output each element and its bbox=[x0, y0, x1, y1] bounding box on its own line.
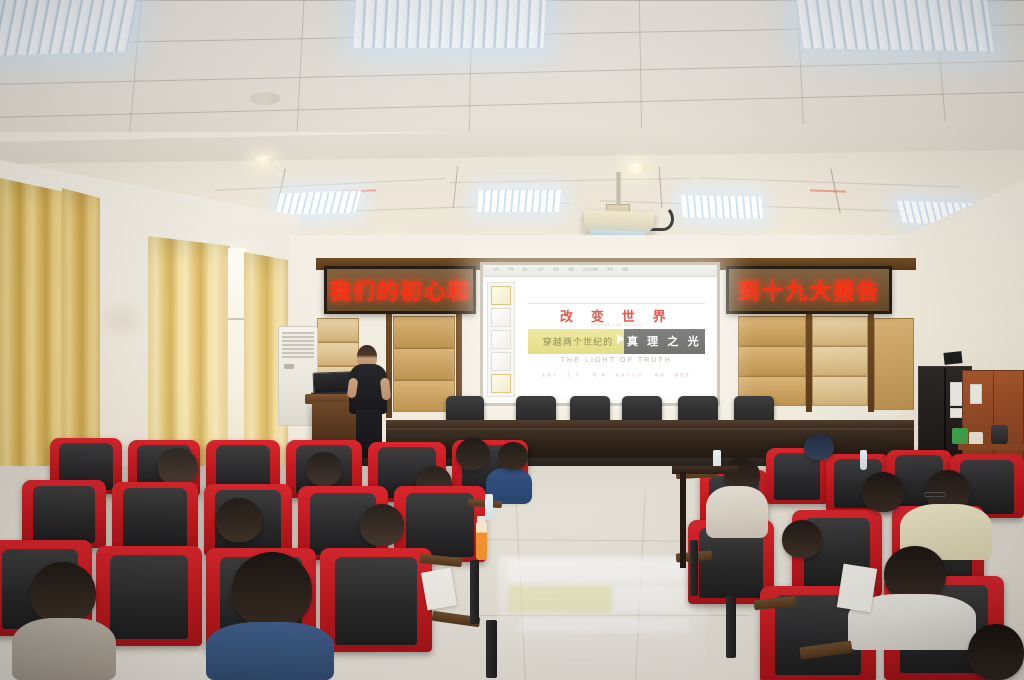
curtain-left-inner bbox=[62, 188, 100, 478]
menu-item[interactable]: 设计 bbox=[538, 267, 544, 271]
seat-leg bbox=[726, 596, 736, 658]
wood-panel bbox=[393, 316, 455, 348]
ceiling-grid-light-center bbox=[477, 190, 561, 212]
attendee-head bbox=[456, 438, 490, 470]
ac-display bbox=[284, 364, 294, 369]
slide-canvas: 改 变 世 界 CHANGE THE WORLD 穿越两个世纪的 真 理 之 光… bbox=[520, 280, 712, 399]
ceiling-grid-light-left bbox=[275, 191, 361, 216]
stage-wall-divider bbox=[868, 312, 874, 412]
slide-credit: 主讲人 : 王 力 bbox=[542, 373, 581, 378]
ceiling-light-panel-right bbox=[796, 0, 994, 52]
menu-item[interactable]: 文件 bbox=[493, 267, 499, 271]
seat[interactable] bbox=[96, 546, 202, 646]
wood-panel bbox=[812, 376, 868, 406]
attendee-head bbox=[782, 520, 822, 558]
attendee-head bbox=[216, 498, 262, 542]
ac-vent bbox=[282, 332, 314, 358]
wood-panel bbox=[812, 346, 868, 376]
attendee-shoulders bbox=[206, 622, 334, 680]
eyeglasses-icon bbox=[924, 492, 946, 497]
slide-credit: 地点 : 报告厅 bbox=[655, 373, 691, 378]
slide-thumbnail[interactable] bbox=[491, 352, 511, 371]
wood-panel bbox=[317, 342, 359, 366]
menu-item[interactable]: 审阅 bbox=[607, 267, 613, 271]
cabinet-counter bbox=[958, 444, 1024, 450]
ceiling-light-panel-center bbox=[354, 0, 547, 48]
slide-thumbnail[interactable] bbox=[491, 308, 511, 327]
attendee-head bbox=[158, 448, 198, 486]
wood-panel bbox=[738, 346, 806, 376]
water-bottle bbox=[860, 450, 867, 470]
slide-credits: 主讲人 : 王 力 时 间 : 九月十八日 地点 : 报告厅 bbox=[536, 373, 697, 378]
projection-screen-surface: 文件 开始 插入 设计 切换 动画 幻灯片放映 审阅 视图 bbox=[483, 265, 717, 403]
attendee-shoulders bbox=[706, 486, 768, 538]
slide-band-yellow-text: 穿越两个世纪的 bbox=[543, 335, 614, 348]
wall-mark bbox=[96, 298, 148, 342]
attendee-head bbox=[862, 472, 904, 512]
seat-leg bbox=[690, 540, 698, 596]
document-in-hand bbox=[421, 568, 457, 611]
projector-cable bbox=[650, 205, 674, 231]
slide-english-line: THE LIGHT OF TRUTH bbox=[520, 357, 712, 364]
projection-screen: 文件 开始 插入 设计 切换 动画 幻灯片放映 审阅 视图 bbox=[480, 262, 720, 406]
wood-panel bbox=[393, 348, 455, 380]
smoke-detector-icon bbox=[250, 92, 280, 105]
led-banner-left: 我们的初心和 bbox=[324, 266, 476, 314]
attendee-head bbox=[804, 434, 834, 460]
attendee-head bbox=[498, 442, 528, 470]
attendee-head bbox=[968, 624, 1024, 680]
menu-item[interactable]: 视图 bbox=[622, 267, 628, 271]
ceiling-grid-light-right bbox=[681, 195, 763, 218]
slide-subtitle: CHANGE THE WORLD bbox=[520, 323, 712, 327]
posted-notice bbox=[970, 384, 982, 404]
projector-mount bbox=[616, 172, 621, 206]
kettle-icon bbox=[991, 425, 1008, 445]
seat-leg bbox=[470, 560, 479, 624]
green-package bbox=[952, 428, 968, 444]
slide-thumbnail[interactable] bbox=[491, 374, 511, 393]
attendee-head bbox=[306, 452, 342, 486]
slide-thumbnail[interactable] bbox=[491, 286, 511, 305]
slide-band-yellow: 穿越两个世纪的 bbox=[528, 329, 628, 354]
seat[interactable] bbox=[112, 482, 198, 552]
seat-leg bbox=[486, 620, 497, 678]
led-banner-right-text: 到十九大报告 bbox=[738, 274, 881, 306]
menu-item[interactable]: 动画 bbox=[568, 267, 574, 271]
beverage-bottle bbox=[476, 522, 487, 560]
slide-band-gray-text: 真 理 之 光 bbox=[627, 333, 702, 349]
slide-title: 改 变 世 界 bbox=[560, 306, 673, 325]
slide-thumbnail-rail[interactable] bbox=[487, 282, 515, 398]
document-in-hand bbox=[837, 564, 877, 613]
slide-thumbnail[interactable] bbox=[491, 330, 511, 349]
led-banner-right: 到十九大报告 bbox=[726, 266, 892, 314]
attendee-shoulders bbox=[12, 618, 116, 680]
downlight-icon bbox=[625, 163, 647, 174]
powerpoint-ribbon: 文件 开始 插入 设计 切换 动画 幻灯片放映 审阅 视图 bbox=[483, 265, 717, 277]
slide-band-gray: 真 理 之 光 bbox=[624, 329, 705, 354]
wood-panel bbox=[812, 316, 868, 346]
menu-item[interactable]: 插入 bbox=[523, 267, 529, 271]
window-pane bbox=[228, 248, 246, 466]
wood-panel bbox=[738, 316, 806, 346]
powerpoint-menu-row: 文件 开始 插入 设计 切换 动画 幻灯片放映 审阅 视图 bbox=[483, 265, 717, 273]
water-bottle bbox=[485, 494, 493, 520]
stage-wall-divider bbox=[806, 312, 812, 412]
menu-item[interactable]: 开始 bbox=[508, 267, 514, 271]
wood-panel bbox=[317, 318, 359, 342]
floor-slide-reflection bbox=[498, 556, 706, 674]
wood-panel bbox=[874, 318, 914, 410]
slide-credit: 时 间 : 九月十八日 bbox=[593, 373, 643, 378]
curtain-middle bbox=[148, 236, 230, 474]
menu-item[interactable]: 幻灯片放映 bbox=[583, 267, 598, 271]
downlight-icon bbox=[253, 155, 274, 165]
led-banner-left-text: 我们的初心和 bbox=[329, 274, 472, 306]
attendee-head bbox=[30, 562, 96, 624]
monitor-on-cabinet bbox=[943, 351, 962, 365]
attendee-head bbox=[232, 552, 312, 628]
seat[interactable] bbox=[22, 480, 106, 548]
side-desk-leg bbox=[680, 472, 686, 568]
attendee-head bbox=[360, 504, 404, 546]
window-frame-bar bbox=[228, 318, 246, 320]
lecture-hall-photo: 我们的初心和 到十九大报告 文件 开始 插入 设计 切换 动画 幻灯片放映 审阅… bbox=[0, 0, 1024, 680]
ceiling-light-panel-left bbox=[0, 0, 138, 57]
seat[interactable] bbox=[320, 548, 432, 652]
menu-item[interactable]: 切换 bbox=[553, 267, 559, 271]
